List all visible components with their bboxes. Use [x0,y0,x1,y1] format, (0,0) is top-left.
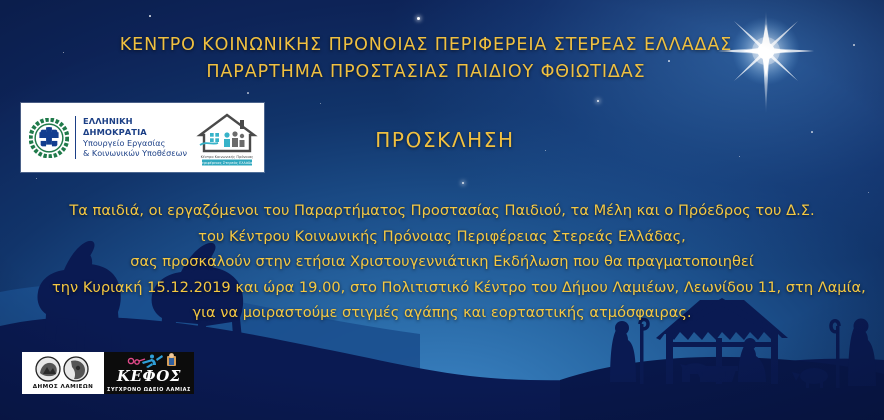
kefos-name: ΚΕΦΟΣ [117,369,181,384]
headline-line-1: ΚΕΝΤΡΟ ΚΟΙΝΩΝΙΚΗΣ ΠΡΟΝΟΙΑΣ ΠΕΡΙΦΕΡΕΙΑ ΣΤ… [96,32,756,59]
svg-text:Περιφέρειας Στερεάς Ελλάδας: Περιφέρειας Στερεάς Ελλάδας [199,161,254,165]
kefos-logo-box: ΚΕΦΟΣ ΣΥΓΧΡΟΝΟ ΩΔΕΙΟ ΛΑΜΙΑΣ [104,352,194,394]
ministry-line-3: & Κοινωνικών Υποθέσεων [83,148,196,159]
body-line-2: του Κέντρου Κοινωνικής Πρόνοιας Περιφέρε… [52,224,832,250]
municipality-logo-box: ΔΗΜΟΣ ΛΑΜΙΕΩΝ [22,352,104,394]
ministry-line-1: ΕΛΛΗΝΙΚΗ ΔΗΜΟΚΡΑΤΙΑ [83,116,196,138]
headline-line-2: ΠΑΡΑΡΤΗΜΑ ΠΡΟΣΤΑΣΙΑΣ ΠΑΙΔΙΟΥ ΦΘΙΩΤΙΔΑΣ [96,59,756,86]
svg-text:Κέντρο Κοινωνικής Πρόνοιας: Κέντρο Κοινωνικής Πρόνοιας [201,155,254,159]
body-line-3: σας προσκαλούν στην ετήσια Χριστουγεννιά… [52,249,832,275]
greek-coat-of-arms-icon [29,118,69,158]
invitation-body: Τα παιδιά, οι εργαζόμενοι του Παραρτήματ… [52,198,832,326]
ministry-logo-box: ΕΛΛΗΝΙΚΗ ΔΗΜΟΚΡΑΤΙΑ Υπουργείο Εργασίας &… [21,103,264,172]
invitation-poster: ΚΕΝΤΡΟ ΚΟΙΝΩΝΙΚΗΣ ΠΡΟΝΟΙΑΣ ΠΕΡΙΦΕΡΕΙΑ ΣΤ… [0,0,884,420]
sponsor-logo-row: ΔΗΜΟΣ ΛΑΜΙΕΩΝ [22,352,194,394]
municipality-caption: ΔΗΜΟΣ ΛΑΜΙΕΩΝ [33,384,94,390]
welfare-center-house-icon: Κέντρο Κοινωνικής Πρόνοιας Περιφέρειας Σ… [196,109,258,167]
lamia-coin-emblem-icon [27,356,99,383]
body-line-5: για να μοιραστούμε στιγμές αγάπης και εο… [52,300,832,326]
ministry-line-2: Υπουργείο Εργασίας [83,138,196,149]
kefos-dancer-icon [112,353,186,368]
organization-headline: ΚΕΝΤΡΟ ΚΟΙΝΩΝΙΚΗΣ ΠΡΟΝΟΙΑΣ ΠΕΡΙΦΕΡΕΙΑ ΣΤ… [96,32,756,85]
body-line-1: Τα παιδιά, οι εργαζόμενοι του Παραρτήματ… [52,198,832,224]
kefos-subtitle: ΣΥΓΧΡΟΝΟ ΩΔΕΙΟ ΛΑΜΙΑΣ [107,387,191,393]
body-line-4: την Κυριακή 15.12.2019 και ώρα 19.00, στ… [52,275,832,301]
invitation-title: ΠΡΟΣΚΛΗΣΗ [330,128,560,152]
ministry-logo-text: ΕΛΛΗΝΙΚΗ ΔΗΜΟΚΡΑΤΙΑ Υπουργείο Εργασίας &… [75,116,196,159]
